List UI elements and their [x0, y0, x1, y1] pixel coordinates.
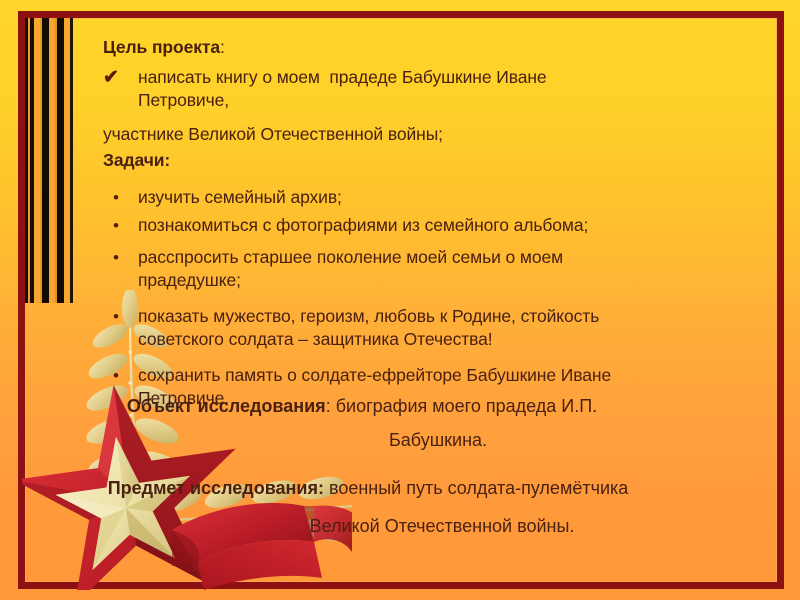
research-object-line: Объект исследования: биография моего пра…	[0, 394, 762, 418]
goal-continuation-line: участнике Великой Отечественной войны;	[103, 123, 443, 146]
research-object-colon: :	[326, 396, 336, 416]
bullet-icon: •	[113, 305, 119, 328]
bullet-icon: •	[113, 186, 119, 209]
bullet-icon: •	[113, 246, 119, 269]
task-item-4-line1: показать мужество, героизм, любовь к Род…	[138, 305, 599, 328]
task-item-2-line1: познакомиться с фотографиями из семейног…	[138, 214, 588, 237]
research-object-line2: Бабушкина.	[38, 428, 800, 452]
bullet-icon: •	[113, 364, 119, 387]
research-subject-label: Предмет исследования:	[108, 478, 324, 498]
goal-heading-colon: :	[220, 37, 225, 57]
task-item-4-line2: советского солдата – защитника Отечества…	[138, 328, 493, 351]
research-subject-line: Предмет исследования: военный путь солда…	[0, 476, 768, 500]
goal-heading: Цель проекта:	[103, 36, 225, 59]
tasks-heading: Задачи:	[103, 149, 170, 172]
goal-heading-bold: Цель проекта	[103, 37, 220, 57]
bullet-icon: •	[113, 214, 119, 237]
presentation-slide: Цель проекта: ✔ написать книгу о моем пр…	[0, 0, 800, 600]
slide-text-content: Цель проекта: ✔ написать книгу о моем пр…	[0, 0, 800, 600]
task-item-3-line1: расспросить старшее поколение моей семьи…	[138, 246, 563, 269]
task-item-5-line1: сохранить память о солдате-ефрейторе Баб…	[138, 364, 611, 387]
research-subject-line2: Великой Отечественной войны.	[42, 514, 800, 538]
research-subject-value: военный путь солдата-пулемётчика	[324, 478, 628, 498]
research-object-value: биография моего прадеда И.П.	[336, 396, 597, 416]
checkmark-bullet-icon: ✔	[103, 66, 119, 89]
goal-item-line2: Петровиче,	[138, 89, 229, 112]
task-item-3-line2: прадедушке;	[138, 269, 241, 292]
research-object-label: Объект исследования	[127, 396, 326, 416]
goal-item-line1: написать книгу о моем прадеде Бабушкине …	[138, 66, 547, 89]
task-item-1-line1: изучить семейный архив;	[138, 186, 342, 209]
